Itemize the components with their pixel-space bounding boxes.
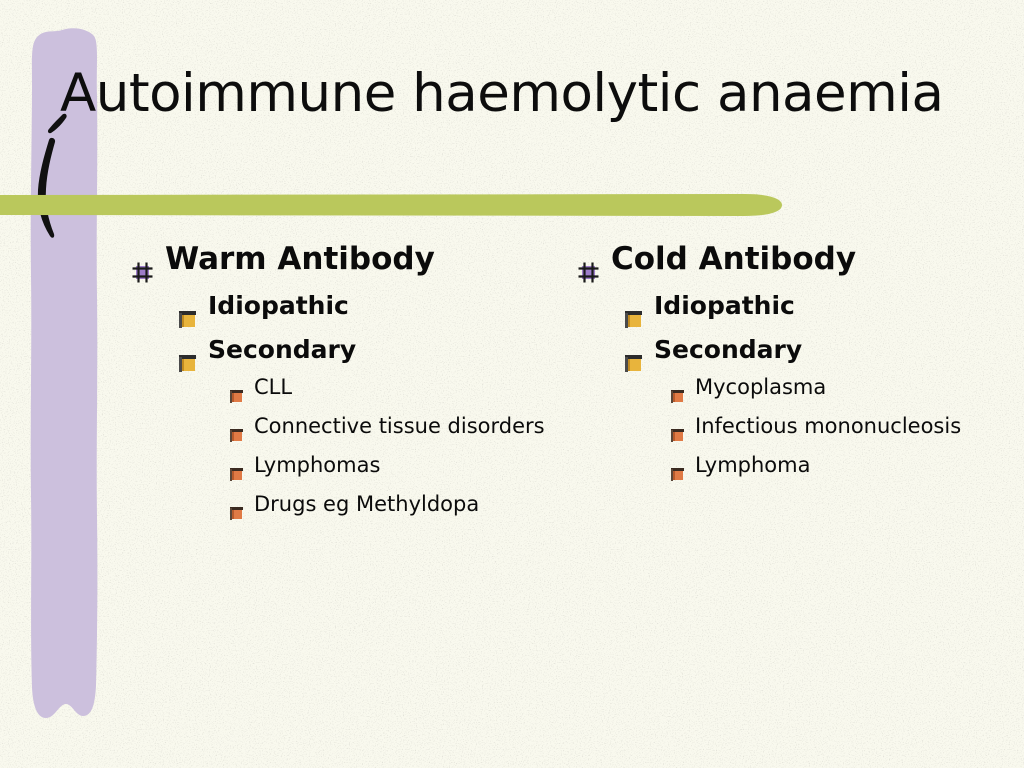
orange-square-bullet-icon — [230, 420, 243, 433]
list-item-sub[interactable]: Idiopathic — [625, 284, 976, 328]
orange-square-bullet-icon — [671, 420, 684, 433]
list-item-sub[interactable]: Secondary — [179, 328, 570, 372]
list-level-1: Warm Antibody Idiopathic — [130, 236, 570, 519]
purple-hash-square-bullet-icon — [132, 250, 153, 271]
orange-square-bullet-icon — [230, 381, 243, 394]
slide-canvas: Autoimmune haemolytic anaemia Warm Antib… — [0, 0, 1024, 768]
content-columns: Warm Antibody Idiopathic — [0, 236, 1024, 528]
list-item-detail[interactable]: Lymphoma — [671, 450, 976, 480]
list-item-label: Idiopathic — [208, 291, 349, 320]
list-item-label: Lymphomas — [254, 453, 380, 477]
list-item-label: Mycoplasma — [695, 375, 826, 399]
orange-square-bullet-icon — [671, 459, 684, 472]
list-item-label: Secondary — [208, 335, 356, 364]
list-item-label: Idiopathic — [654, 291, 795, 320]
gold-square-bullet-icon — [179, 298, 196, 315]
list-item-detail[interactable]: Drugs eg Methyldopa — [230, 489, 570, 519]
list-item-label: Secondary — [654, 335, 802, 364]
list-item-label: Cold Antibody — [611, 241, 856, 277]
list-item-detail[interactable]: Infectious mononucleosis — [671, 411, 976, 441]
gold-square-bullet-icon — [625, 342, 642, 359]
list-item-label: Warm Antibody — [165, 241, 435, 277]
list-item-label: Drugs eg Methyldopa — [254, 492, 479, 516]
list-item-heading[interactable]: Cold Antibody — [576, 236, 976, 282]
list-item-detail[interactable]: CLL — [230, 372, 570, 402]
gold-square-bullet-icon — [179, 342, 196, 359]
orange-square-bullet-icon — [230, 498, 243, 511]
purple-hash-square-bullet-icon — [578, 250, 599, 271]
green-underline-rule — [0, 192, 790, 218]
list-item-detail[interactable]: Lymphomas — [230, 450, 570, 480]
list-item-sub[interactable]: Secondary — [625, 328, 976, 372]
list-item-heading[interactable]: Warm Antibody — [130, 236, 570, 282]
column-cold-antibody: Cold Antibody Idiopathic — [576, 236, 976, 489]
column-warm-antibody: Warm Antibody Idiopathic — [130, 236, 570, 528]
orange-square-bullet-icon — [671, 381, 684, 394]
list-item-detail[interactable]: Mycoplasma — [671, 372, 976, 402]
list-item-label: Infectious mononucleosis — [695, 414, 961, 438]
orange-square-bullet-icon — [230, 459, 243, 472]
list-item-sub[interactable]: Idiopathic — [179, 284, 570, 328]
brush-chevron-mark — [22, 112, 84, 242]
list-item-label: Lymphoma — [695, 453, 810, 477]
list-item-label: CLL — [254, 375, 292, 399]
page-title: Autoimmune haemolytic anaemia — [60, 62, 1010, 126]
list-level-1: Cold Antibody Idiopathic — [576, 236, 976, 480]
list-item-label: Connective tissue disorders — [254, 414, 545, 438]
list-item-detail[interactable]: Connective tissue disorders — [230, 411, 570, 441]
gold-square-bullet-icon — [625, 298, 642, 315]
